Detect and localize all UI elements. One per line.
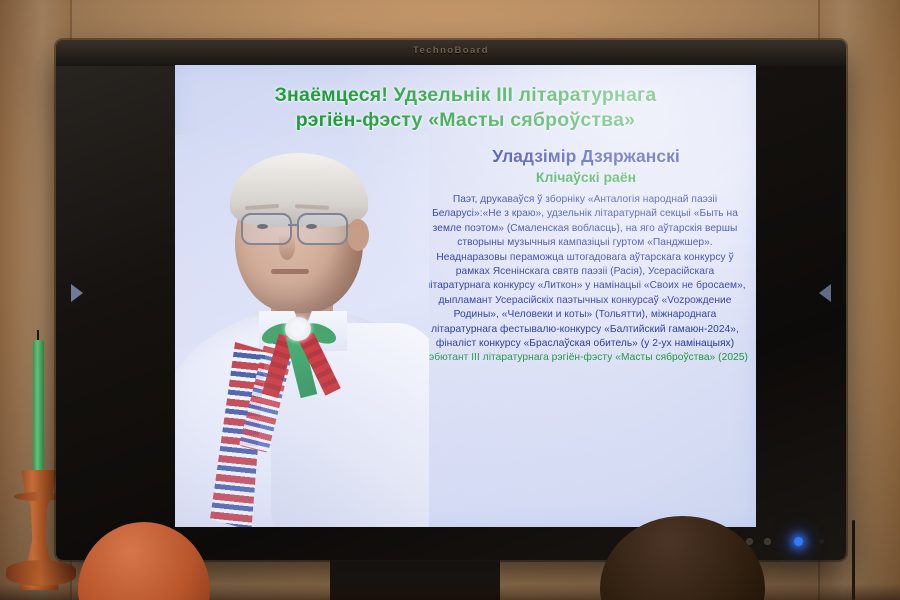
debut-line-1: Дэбютант III літаратурнага рэгіён-фэсту	[422, 352, 612, 363]
power-led-indicator	[794, 537, 803, 546]
chevron-left-icon	[819, 284, 831, 302]
bezel-left-arrow-button[interactable]	[66, 280, 88, 306]
participant-name: Уладзімір Дзяржанскі	[428, 145, 744, 167]
display-brand-logo: TechnoBoard	[56, 45, 846, 56]
slide-title-line-1: Знаёмцеся! Удзельнік III літаратурнага	[189, 83, 742, 108]
debut-year: (2025)	[718, 352, 748, 363]
bezel-right-arrow-button[interactable]	[814, 280, 836, 306]
glasses-lens-right	[297, 213, 348, 245]
ribbon-flower	[285, 317, 311, 341]
participant-photo	[175, 135, 429, 527]
candlestick-base	[6, 560, 76, 586]
slide-title-line-2: рэгіён-фэсту «Масты сяброўства»	[189, 108, 742, 133]
glasses-bridge	[288, 224, 299, 226]
presentation-slide: Знаёмцеся! Удзельнік III літаратурнага р…	[175, 65, 756, 527]
interactive-display[interactable]: TechnoBoard Знаёмцеся! Удзельнік III літ…	[56, 40, 846, 560]
chevron-right-icon	[71, 284, 83, 302]
room-scene: TechnoBoard Знаёмцеся! Удзельнік III літ…	[0, 0, 900, 600]
ir-receiver	[819, 539, 824, 544]
participant-region: Клічаўскі раён	[428, 168, 744, 187]
photo-nose	[279, 234, 295, 260]
glasses-icon	[235, 213, 365, 243]
green-candle	[33, 340, 44, 480]
participant-biography: Паэт, друкаваўся ў зборніку «Анталогія н…	[422, 193, 748, 366]
biography-text: Паэт, друкаваўся ў зборніку «Анталогія н…	[424, 194, 745, 349]
photo-mouth	[271, 269, 309, 274]
debut-line-2: «Масты сяброўства»	[615, 352, 715, 363]
slide-title: Знаёмцеся! Удзельнік III літаратурнага р…	[189, 83, 742, 133]
bezel-button-5[interactable]	[764, 538, 771, 545]
